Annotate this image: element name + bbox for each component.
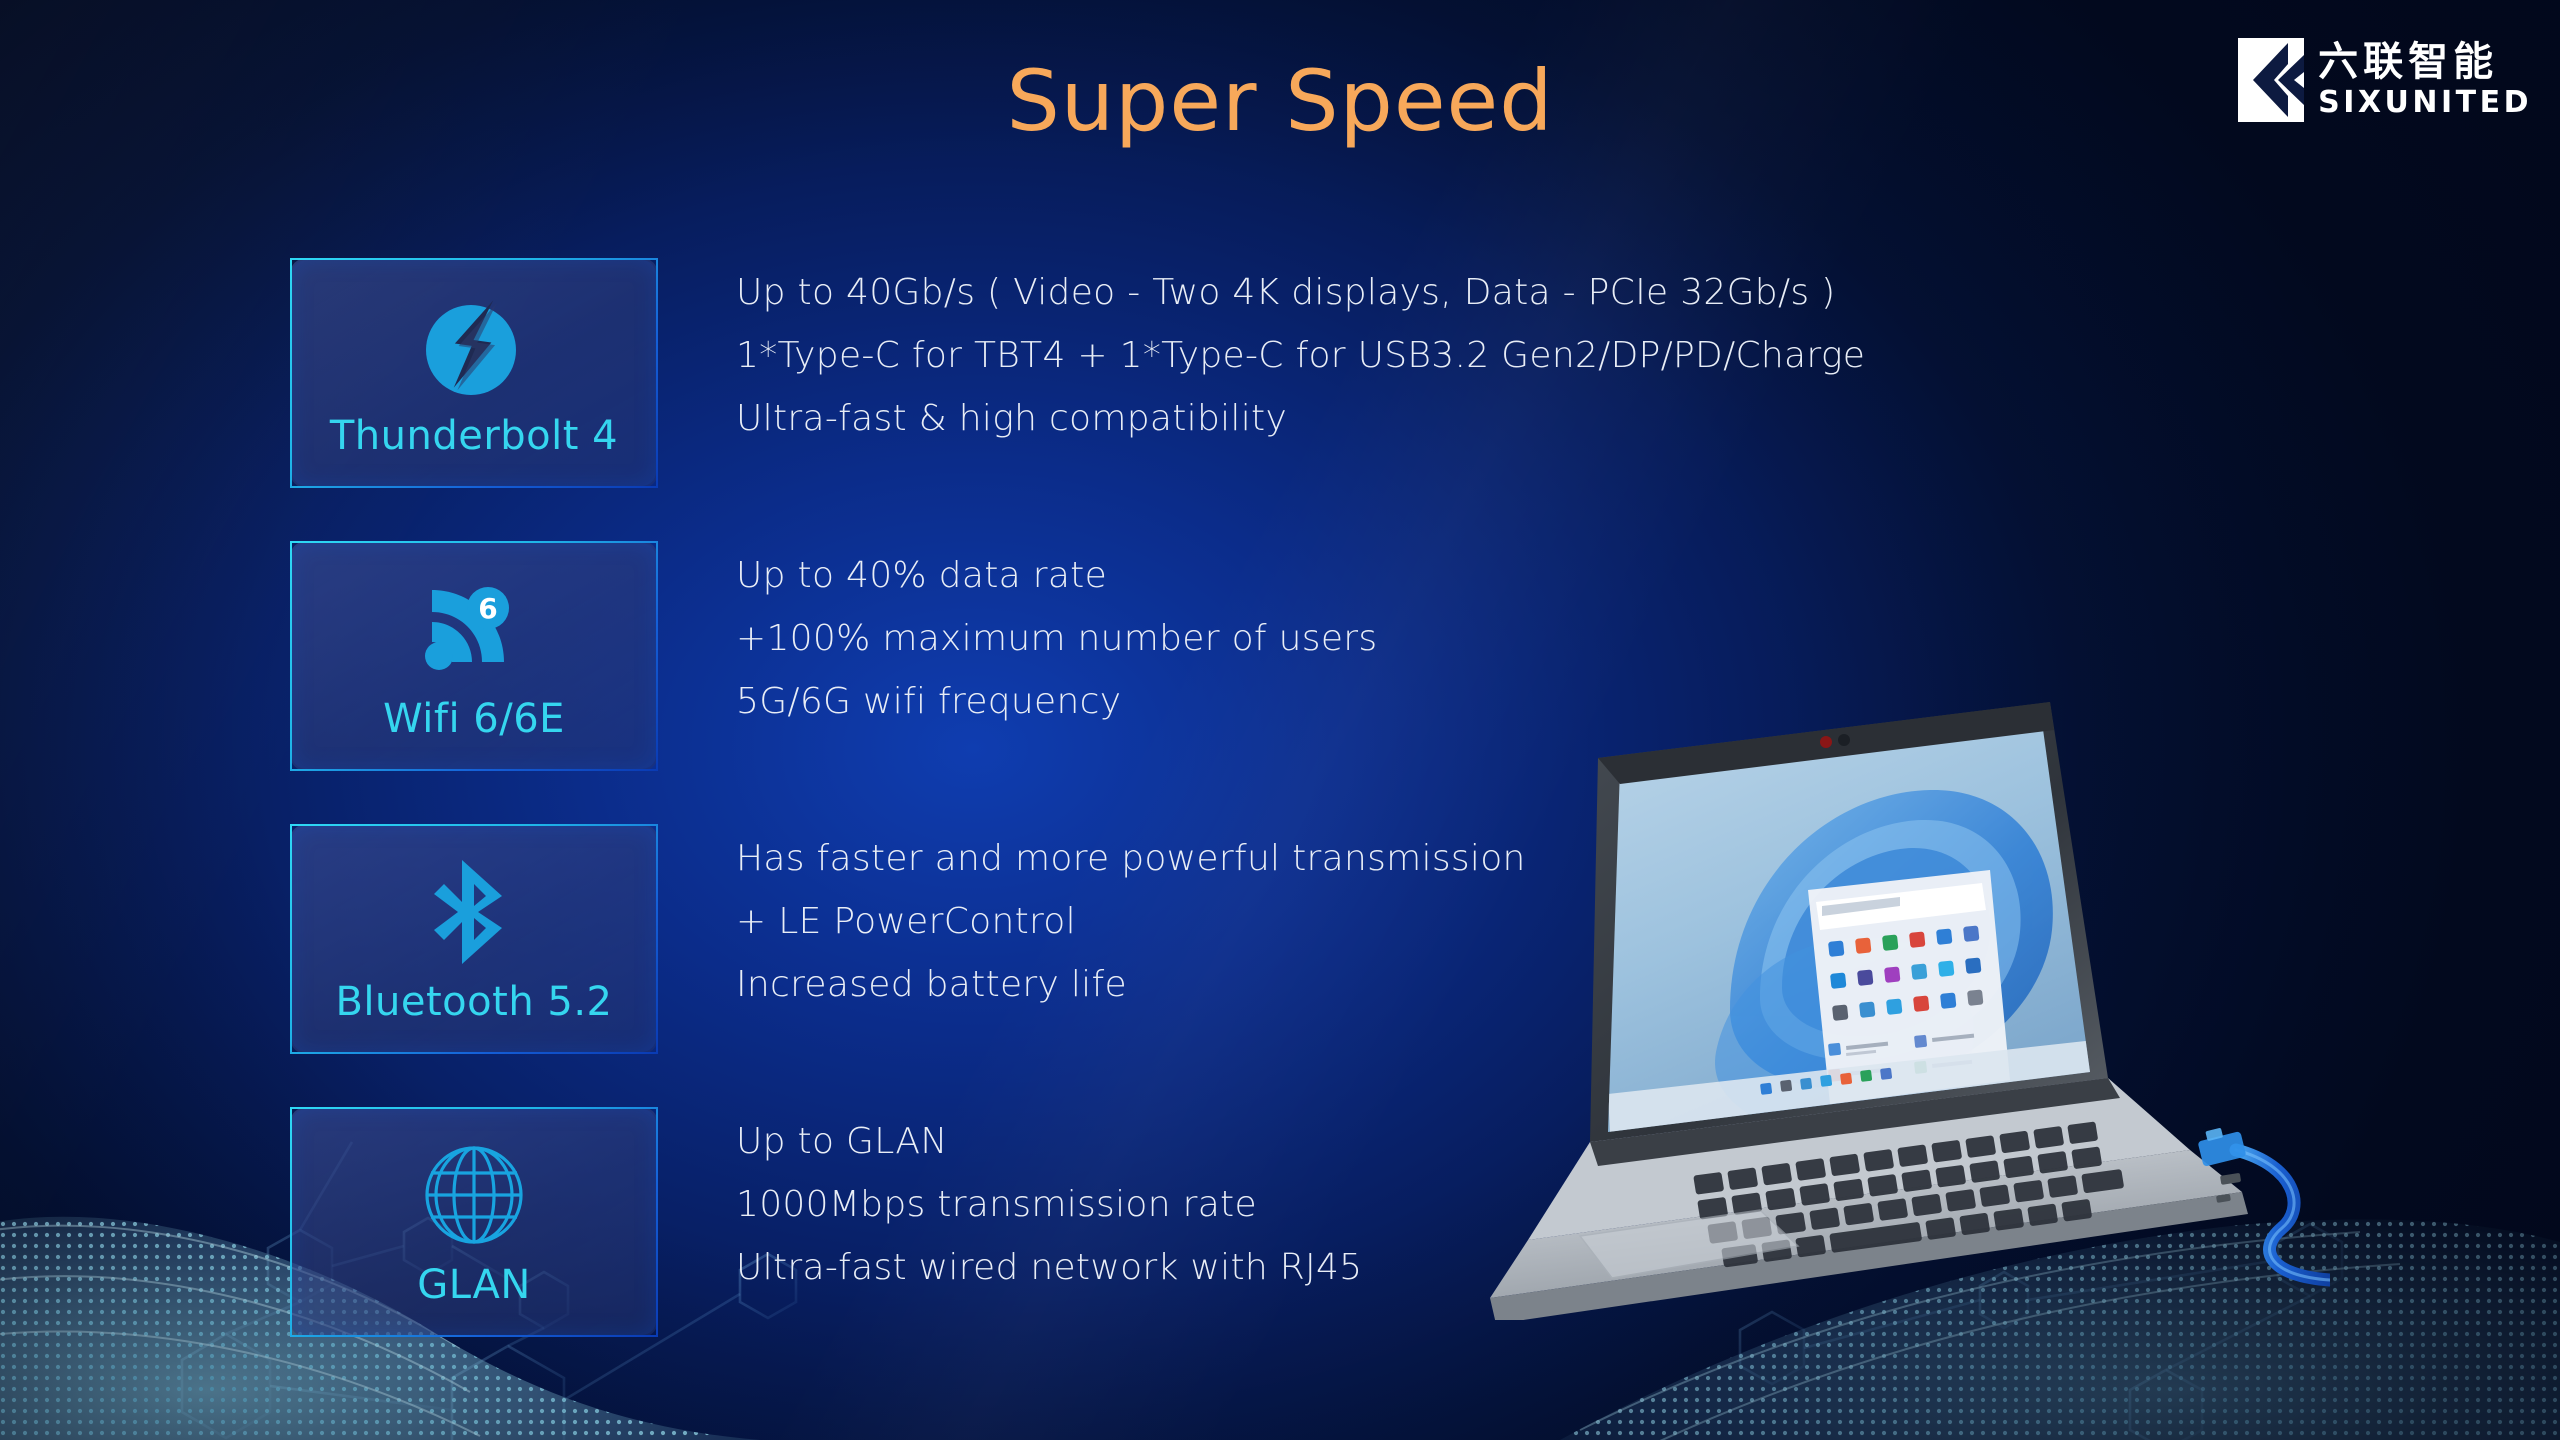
- thunderbolt-icon: [415, 287, 533, 405]
- laptop-product-image: [1430, 680, 2330, 1320]
- feature-card-thunderbolt[interactable]: Thunderbolt 4: [290, 258, 658, 488]
- feature-label-bluetooth: Bluetooth 5.2: [335, 979, 612, 1025]
- feature-line: Up to 40% data rate: [736, 555, 1377, 596]
- feature-text-thunderbolt: Up to 40Gb/s ( Video - Two 4K displays, …: [736, 272, 1865, 461]
- feature-text-bluetooth: Has faster and more powerful transmissio…: [736, 838, 1526, 1027]
- feature-line: Has faster and more powerful transmissio…: [736, 838, 1526, 879]
- feature-label-wifi: Wifi 6/6E: [383, 696, 565, 742]
- bluetooth-icon: [428, 853, 520, 971]
- feature-line: Up to GLAN: [736, 1121, 1362, 1162]
- brand-logo: 六联智能 SIXUNITED: [2238, 38, 2532, 122]
- sixunited-logo-mark-icon: [2238, 38, 2304, 122]
- wifi-6-icon: 6: [420, 570, 528, 688]
- feature-line: 5G/6G wifi frequency: [736, 681, 1377, 722]
- feature-line: Increased battery life: [736, 964, 1526, 1005]
- feature-line: +100% maximum number of users: [736, 618, 1377, 659]
- slide-root: Super Speed 六联智能 SIXUNITED: [0, 0, 2560, 1440]
- feature-line: Up to 40Gb/s ( Video - Two 4K displays, …: [736, 272, 1865, 313]
- feature-label-thunderbolt: Thunderbolt 4: [330, 413, 618, 459]
- feature-line: Ultra-fast wired network with RJ45: [736, 1247, 1362, 1288]
- wifi-badge-number: 6: [478, 592, 497, 625]
- feature-line: Ultra-fast & high compatibility: [736, 398, 1865, 439]
- feature-line: + LE PowerControl: [736, 901, 1526, 942]
- feature-line: 1000Mbps transmission rate: [736, 1184, 1362, 1225]
- feature-label-glan: GLAN: [417, 1262, 530, 1308]
- feature-text-glan: Up to GLAN 1000Mbps transmission rate Ul…: [736, 1121, 1362, 1310]
- logo-chinese-name: 六联智能: [2318, 42, 2532, 82]
- feature-card-bluetooth[interactable]: Bluetooth 5.2: [290, 824, 658, 1054]
- page-title: Super Speed: [0, 52, 2560, 150]
- feature-text-wifi: Up to 40% data rate +100% maximum number…: [736, 555, 1377, 744]
- feature-line: 1*Type-C for TBT4 + 1*Type-C for USB3.2 …: [736, 335, 1865, 376]
- globe-icon: [420, 1136, 528, 1254]
- feature-card-wifi[interactable]: 6 Wifi 6/6E: [290, 541, 658, 771]
- logo-english-name: SIXUNITED: [2318, 88, 2532, 118]
- feature-card-glan[interactable]: GLAN: [290, 1107, 658, 1337]
